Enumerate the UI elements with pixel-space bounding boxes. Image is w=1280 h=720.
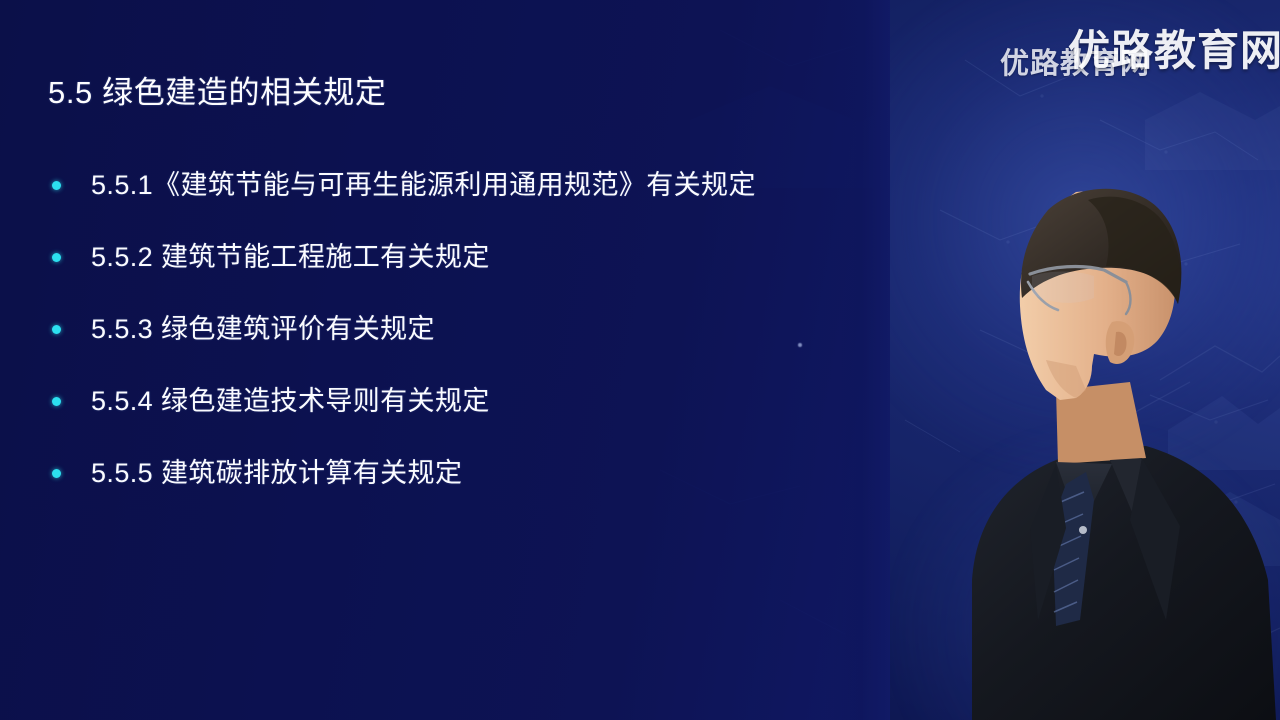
stray-punctuation-mark [798, 343, 802, 347]
slide-bullet-list: 5.5.1《建筑节能与可再生能源利用通用规范》有关规定 5.5.2 建筑节能工程… [48, 168, 890, 528]
bullet-dot-icon [52, 397, 61, 406]
slide-content: 5.5 绿色建造的相关规定 5.5.1《建筑节能与可再生能源利用通用规范》有关规… [0, 0, 890, 720]
presenter-silhouette [880, 60, 1280, 720]
list-item: 5.5.5 建筑碳排放计算有关规定 [48, 456, 890, 528]
list-item-label: 5.5.4 绿色建造技术导则有关规定 [91, 384, 490, 418]
slide-title: 5.5 绿色建造的相关规定 [48, 74, 890, 111]
list-item-label: 5.5.3 绿色建筑评价有关规定 [91, 312, 435, 346]
list-item: 5.5.1《建筑节能与可再生能源利用通用规范》有关规定 [48, 168, 890, 240]
list-item-label: 5.5.1《建筑节能与可再生能源利用通用规范》有关规定 [91, 168, 756, 202]
bullet-dot-icon [52, 253, 61, 262]
list-item: 5.5.3 绿色建筑评价有关规定 [48, 312, 890, 384]
list-item: 5.5.4 绿色建造技术导则有关规定 [48, 384, 890, 456]
list-item: 5.5.2 建筑节能工程施工有关规定 [48, 240, 890, 312]
list-item-label: 5.5.5 建筑碳排放计算有关规定 [91, 456, 462, 490]
bullet-dot-icon [52, 469, 61, 478]
presenter-figure [880, 60, 1280, 720]
list-item-label: 5.5.2 建筑节能工程施工有关规定 [91, 240, 490, 274]
bullet-dot-icon [52, 181, 61, 190]
lapel-pin-icon [1079, 526, 1087, 534]
video-player-stage: 5.5 绿色建造的相关规定 5.5.1《建筑节能与可再生能源利用通用规范》有关规… [0, 0, 1280, 720]
bullet-dot-icon [52, 325, 61, 334]
